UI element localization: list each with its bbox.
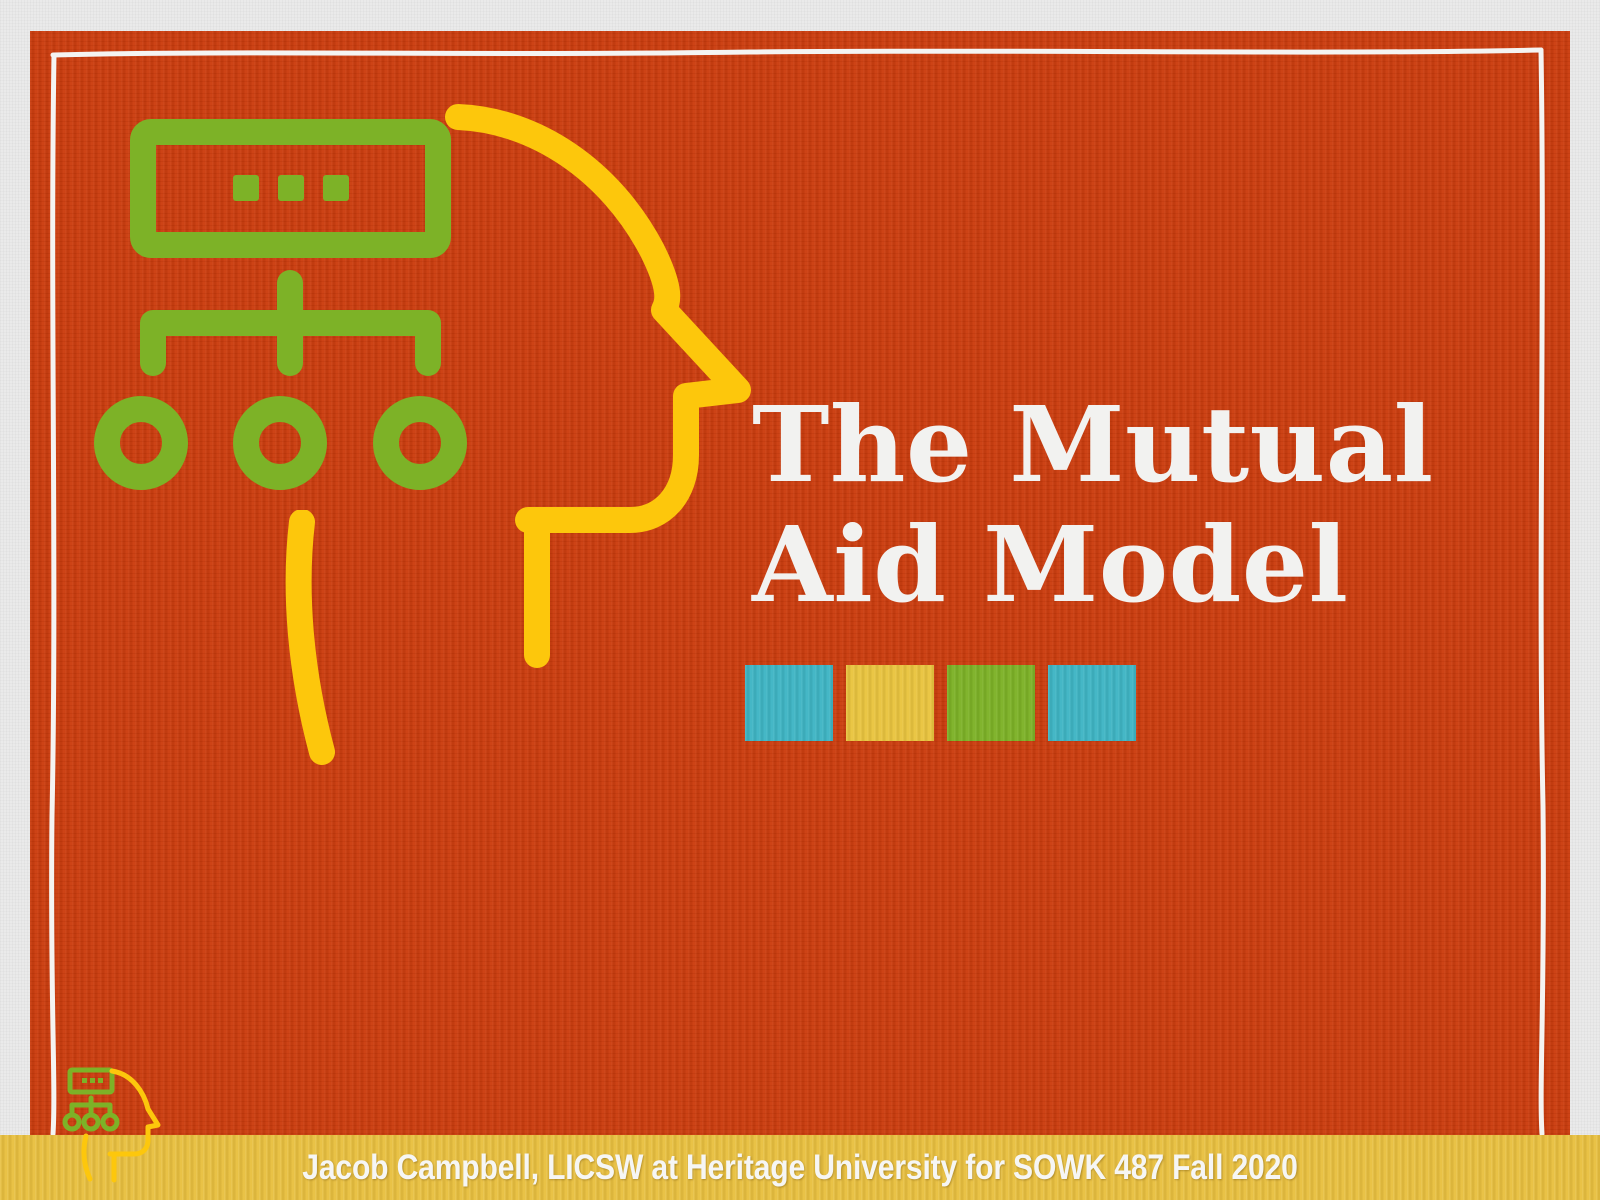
swatch-gold	[846, 665, 934, 741]
yellow-accent-stroke	[280, 510, 360, 770]
sitemap-icon	[90, 100, 490, 500]
swatch-teal-2	[1048, 665, 1136, 741]
title-line-1: The Mutual	[752, 385, 1512, 505]
page-title: The Mutual Aid Model	[752, 385, 1512, 625]
slide-root: The Mutual Aid Model Jacob Campbell, LIC…	[0, 0, 1600, 1200]
color-swatch-row	[745, 665, 1136, 741]
corner-logo-icon	[60, 1062, 170, 1187]
swatch-green	[947, 665, 1035, 741]
footer-band: Jacob Campbell, LICSW at Heritage Univer…	[0, 1135, 1600, 1200]
footer-attribution-text: Jacob Campbell, LICSW at Heritage Univer…	[112, 1135, 1488, 1200]
swatch-teal-1	[745, 665, 833, 741]
title-line-2: Aid Model	[752, 505, 1512, 625]
